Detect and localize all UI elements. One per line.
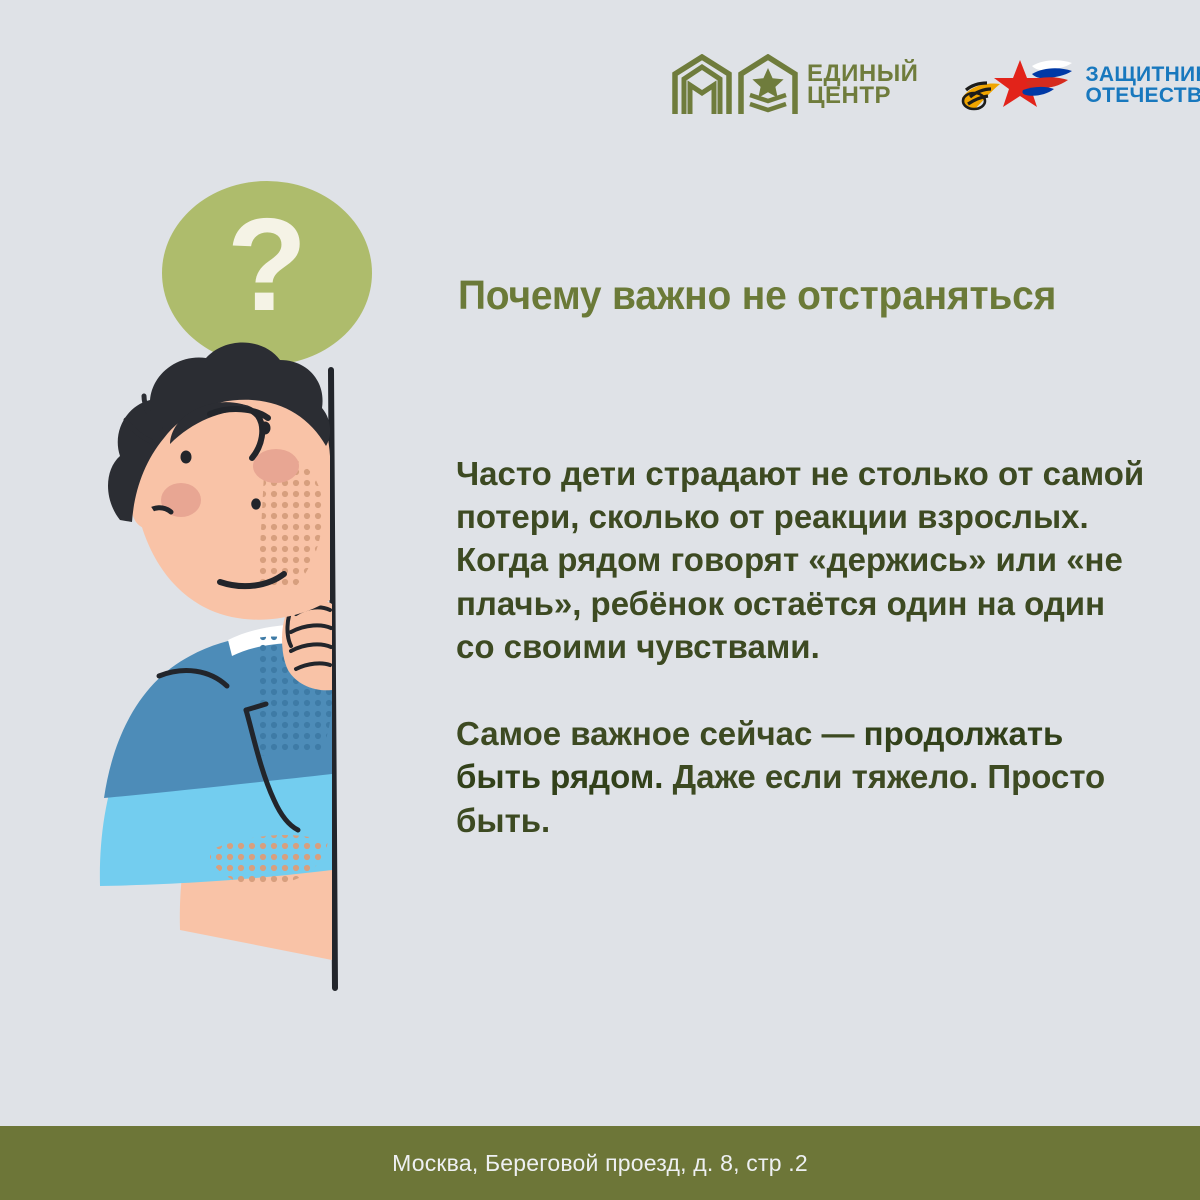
body-text-column: Часто дети страдают не столько от самой … xyxy=(456,452,1146,842)
poster-root: ЕДИНЫЙ ЦЕНТР xyxy=(0,0,1200,1200)
logo-zashchitniki-otechestva: ЗАЩИТНИКИ ОТЕЧЕСТВА xyxy=(960,49,1200,121)
zo-emblem-icon xyxy=(960,54,1078,116)
paragraph-1: Часто дети страдают не столько от самой … xyxy=(456,452,1146,538)
boy-head xyxy=(108,342,346,619)
footer-bar: Москва, Береговой проезд, д. 8, стр .2 xyxy=(0,1126,1200,1200)
edinyi-centr-marks xyxy=(672,54,798,116)
boy-peeking-svg: ? xyxy=(60,170,440,1010)
paragraph-2: Когда рядом говорят «держись» или «не пл… xyxy=(456,538,1146,668)
header-logo-row: ЕДИНЫЙ ЦЕНТР xyxy=(672,44,1152,126)
st-george-ribbon-icon xyxy=(962,83,1000,110)
speech-bubble: ? xyxy=(162,181,372,368)
zo-wordmark: ЗАЩИТНИКИ ОТЕЧЕСТВА xyxy=(1085,64,1200,106)
zo-line2: ОТЕЧЕСТВА xyxy=(1085,85,1200,106)
arch-m-icon xyxy=(672,54,732,116)
footer-address: Москва, Береговой проезд, д. 8, стр .2 xyxy=(392,1150,808,1177)
zo-line1: ЗАЩИТНИКИ xyxy=(1085,64,1200,85)
edinyi-centr-wordmark: ЕДИНЫЙ ЦЕНТР xyxy=(807,63,918,107)
edinyi-centr-line2: ЦЕНТР xyxy=(807,85,918,107)
blush-right xyxy=(253,449,299,483)
paragraph-3: Самое важное сейчас — продолжать быть ря… xyxy=(456,712,1146,842)
logo-edinyi-centr: ЕДИНЫЙ ЦЕНТР xyxy=(672,51,918,119)
eye-left xyxy=(181,451,192,464)
illustration-boy-peeking: ? xyxy=(60,170,440,1010)
speech-bubble-question-mark: ? xyxy=(227,191,308,338)
page-title: Почему важно не отстраняться xyxy=(458,272,1123,319)
paragraph-3-lead: Самое важное сейчас — xyxy=(456,715,864,752)
arch-star-chevron-icon xyxy=(738,54,798,116)
mole xyxy=(251,498,261,509)
